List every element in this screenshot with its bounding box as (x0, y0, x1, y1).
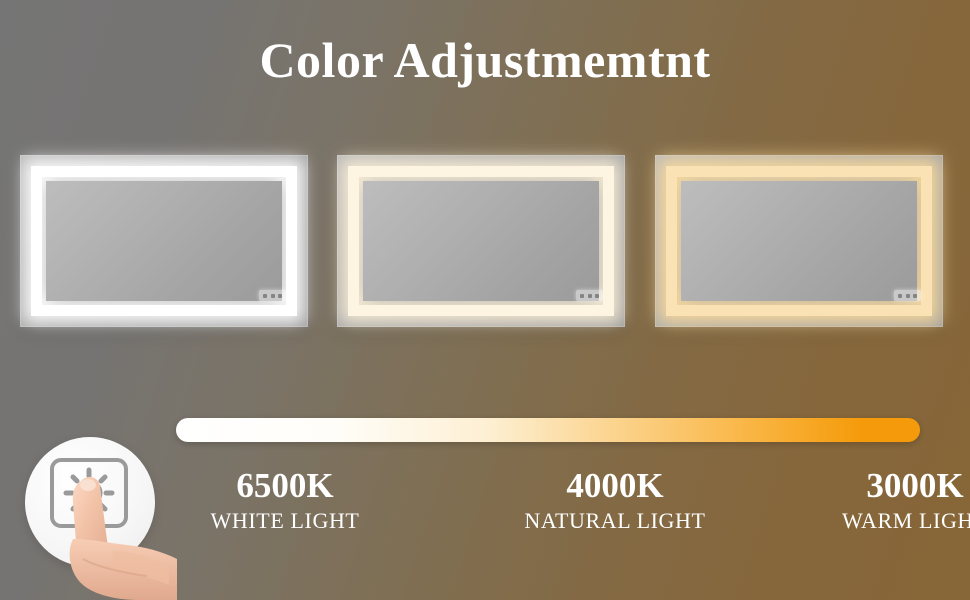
mirror-glass (46, 181, 282, 301)
legend-caption: WARM LIGHT (810, 507, 970, 535)
legend-caption: NATURAL LIGHT (490, 507, 740, 535)
mirror-glass (363, 181, 599, 301)
touch-key-icon (906, 294, 910, 298)
legend-kelvin: 6500K (160, 466, 410, 505)
color-temperature-legend: 6500K WHITE LIGHT 4000K NATURAL LIGHT 30… (160, 466, 970, 546)
touch-key-icon (595, 294, 599, 298)
touch-control-panel[interactable] (894, 290, 921, 301)
legend-kelvin: 3000K (810, 466, 970, 505)
legend-caption: WHITE LIGHT (160, 507, 410, 535)
touch-key-icon (263, 294, 267, 298)
legend-item-warm-light: 3000K WARM LIGHT (810, 466, 970, 535)
touch-key-icon (913, 294, 917, 298)
page-title: Color Adjustmemtnt (0, 34, 970, 87)
touch-key-icon (278, 294, 282, 298)
mirror-comparison-row (0, 155, 970, 335)
mirror-white-light (20, 155, 308, 327)
mirror-warm-light (655, 155, 943, 327)
touch-button-demo (25, 437, 177, 600)
touch-key-icon (580, 294, 584, 298)
product-feature-banner: Color Adjustmemtnt (0, 0, 970, 600)
touch-control-panel[interactable] (259, 290, 286, 301)
touch-key-icon (898, 294, 902, 298)
legend-item-natural-light: 4000K NATURAL LIGHT (490, 466, 740, 535)
touch-key-icon (271, 294, 275, 298)
hand-pressing-button (61, 473, 177, 600)
legend-item-white-light: 6500K WHITE LIGHT (160, 466, 410, 535)
touch-control-panel[interactable] (576, 290, 603, 301)
mirror-natural-light (337, 155, 625, 327)
color-temperature-gradient-bar[interactable] (176, 418, 920, 442)
touch-key-icon (588, 294, 592, 298)
legend-kelvin: 4000K (490, 466, 740, 505)
mirror-glass (681, 181, 917, 301)
